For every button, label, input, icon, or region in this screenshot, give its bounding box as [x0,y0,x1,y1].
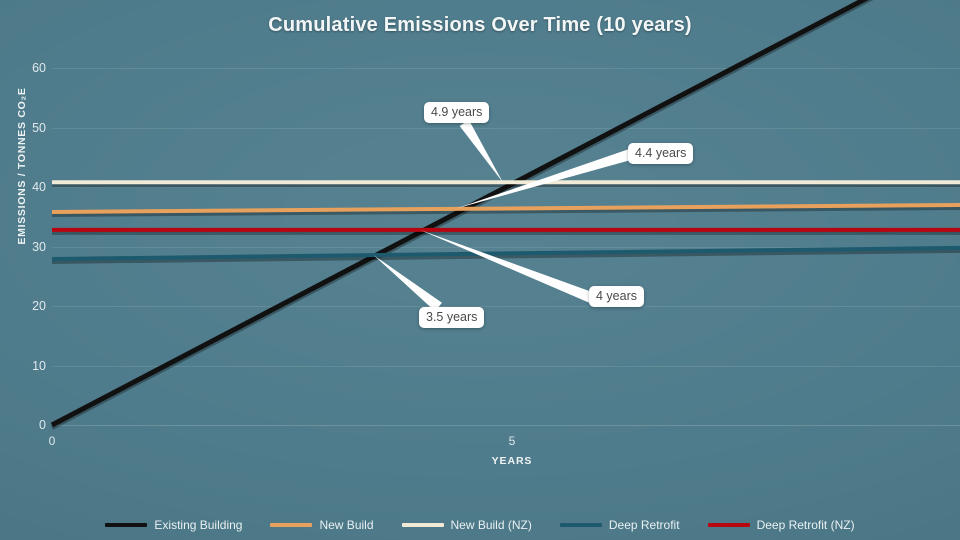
legend-swatch [270,523,312,527]
legend-swatch [105,523,147,527]
legend-item[interactable]: New Build (NZ) [402,518,532,532]
chart-canvas: Cumulative Emissions Over Time (10 years… [0,0,960,540]
annotation-leader-line [457,149,632,208]
legend-item[interactable]: Deep Retrofit (NZ) [708,518,855,532]
legend-label: Existing Building [154,518,242,532]
annotation-leader-line [374,255,442,311]
legend-item[interactable]: Deep Retrofit [560,518,680,532]
plot-area: 0102030405060 05 EMISSIONS / TONNES CO₂E… [0,0,960,540]
annotation-callout: 4 years [589,286,644,307]
annotation-callout: 4.4 years [628,143,693,164]
chart-legend: Existing BuildingNew BuildNew Build (NZ)… [0,518,960,532]
legend-label: Deep Retrofit [609,518,680,532]
annotation-callout: 4.9 years [424,102,489,123]
legend-label: Deep Retrofit (NZ) [757,518,855,532]
annotation-leader-lines [0,0,960,540]
legend-swatch [708,523,750,527]
annotation-callout: 3.5 years [419,307,484,328]
annotation-leader-line [420,230,593,303]
legend-swatch [560,523,602,527]
legend-label: New Build [319,518,373,532]
annotation-leader-line [460,120,503,182]
legend-swatch [402,523,444,527]
legend-label: New Build (NZ) [451,518,532,532]
legend-item[interactable]: New Build [270,518,373,532]
legend-item[interactable]: Existing Building [105,518,242,532]
